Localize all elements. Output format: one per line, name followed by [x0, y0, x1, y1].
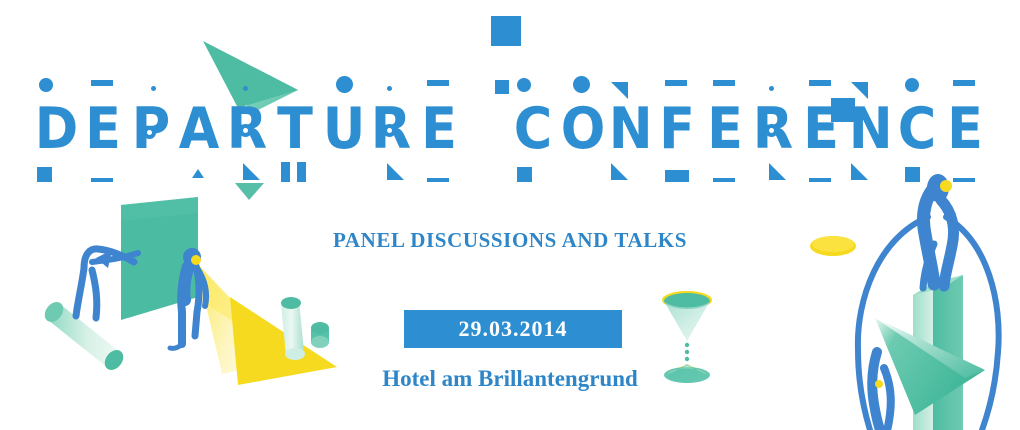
title-glyph-N: N [607, 100, 651, 160]
dot-mark [336, 76, 353, 93]
standing-figure-with-lamp [170, 248, 206, 348]
title-glyph-E: E [81, 100, 125, 160]
dot-mark [243, 86, 248, 91]
blue-square-top-center [491, 16, 521, 46]
bar-mark [953, 178, 975, 182]
dot-mark [573, 76, 590, 93]
bar-mark [713, 80, 735, 86]
triangle-mark [611, 82, 628, 99]
title-glyph-E5: E [943, 100, 987, 160]
triangle-mark [769, 163, 786, 180]
dot-mark [905, 78, 919, 92]
date-badge: 29.03.2014 [404, 310, 622, 348]
triangle-mark [387, 163, 404, 180]
green-puck [311, 322, 329, 348]
bending-figure [76, 249, 134, 318]
title-glyph-F: F [655, 100, 699, 160]
blue-square-top-right [831, 98, 855, 122]
bar-mark [713, 178, 735, 182]
title-glyph-D: D [33, 100, 77, 160]
glyph-char: E [83, 100, 123, 160]
pale-green-cylinder [41, 298, 127, 373]
green-panel [121, 197, 198, 320]
glyph-char: D [35, 100, 75, 160]
title-glyph-U: U [321, 100, 365, 160]
bar-mark [809, 80, 831, 86]
title-glyph-A: A [177, 100, 221, 160]
pale-cylinder [281, 297, 305, 360]
triangle-mark [851, 82, 868, 99]
square-mark [517, 167, 532, 182]
title-glyph-C2: C [895, 100, 939, 160]
triangle-mark [851, 163, 868, 180]
title-glyph-R2: R [369, 100, 413, 160]
hourglass-upper-rim [662, 291, 712, 309]
bar-mark [809, 178, 831, 182]
yellow-light-cone [196, 262, 286, 374]
green-accent-triangle [235, 183, 264, 200]
title-glyph-P: P [129, 100, 173, 160]
glyph-char: F [657, 100, 697, 160]
date-text: 29.03.2014 [459, 316, 568, 342]
subtitle: PANEL DISCUSSIONS AND TALKS [0, 228, 1020, 253]
bar-mark [297, 162, 306, 182]
glyph-char: O [561, 100, 601, 160]
bar-mark [91, 178, 113, 182]
dotted-stream [685, 343, 689, 361]
triangle-mark [192, 169, 204, 178]
square-mark [37, 167, 52, 182]
green-column [933, 275, 963, 430]
venue-name: Hotel am Brillantengrund [0, 366, 1020, 392]
title-glyph-R: R [225, 100, 269, 160]
triangle-mark [611, 163, 628, 180]
page-title: D E P A R [0, 100, 1020, 160]
title-glyph-R3: R [751, 100, 795, 160]
bar-mark [427, 80, 449, 86]
bar-mark [665, 80, 687, 86]
ring-mark [765, 124, 778, 137]
bending-figure-arm [92, 253, 138, 262]
bar-mark [953, 80, 975, 86]
glyph-char: C [897, 100, 937, 160]
title-word-conference: C O N F E [511, 100, 987, 160]
dot-mark [387, 86, 392, 91]
dot-mark [151, 86, 156, 91]
bar-mark [91, 80, 113, 86]
left-scene [41, 197, 337, 385]
poster-canvas: D E P A R [0, 0, 1020, 430]
glyph-char: U [323, 100, 363, 160]
square-mark [905, 167, 920, 182]
title-glyph-T: T [273, 100, 317, 160]
title-glyph-E3: E [703, 100, 747, 160]
glyph-char: T [275, 100, 315, 160]
title-glyph-O: O [559, 100, 603, 160]
square-mark [665, 170, 689, 182]
bar-mark [281, 162, 290, 182]
blue-square-small-center [495, 80, 509, 94]
title-glyph-E2: E [417, 100, 461, 160]
glyph-char: C [513, 100, 553, 160]
glyph-char: N [609, 100, 649, 160]
hourglass-upper-cone [664, 301, 710, 341]
title-glyph-C: C [511, 100, 555, 160]
ring-mark [383, 124, 396, 137]
glyph-char: E [945, 100, 985, 160]
ring-mark [143, 126, 156, 139]
ring-mark [239, 124, 252, 137]
dot-mark [517, 78, 531, 92]
bar-mark [427, 178, 449, 182]
glyph-char: E [419, 100, 459, 160]
dot-mark [39, 78, 53, 92]
title-word-departure: D E P A R [33, 100, 461, 160]
dot-mark [769, 86, 774, 91]
glyph-char: E [705, 100, 745, 160]
glyph-char: A [179, 100, 219, 160]
triangle-mark [243, 163, 260, 180]
